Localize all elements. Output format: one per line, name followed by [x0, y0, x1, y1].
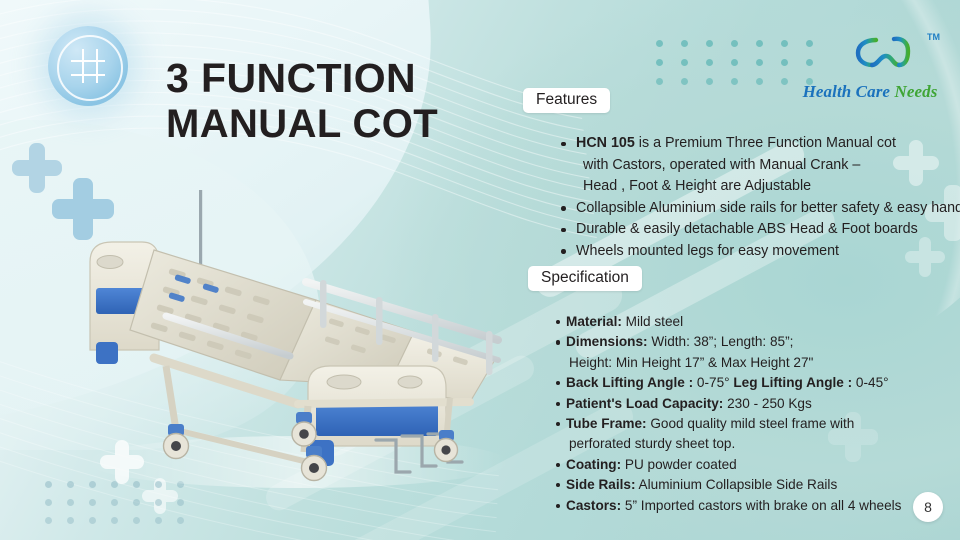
feature-text: Collapsible Aluminium side rails for bet…	[576, 200, 960, 216]
feature-continuation: with Castors, operated with Manual Crank…	[576, 155, 960, 177]
spec-value: Width: 38”; Length: 85”;	[648, 334, 794, 349]
medical-cross-icon	[71, 49, 105, 83]
list-item: HCN 105 is a Premium Three Function Manu…	[558, 133, 960, 198]
spec-label: Back Lifting Angle :	[566, 375, 693, 390]
list-item: Side Rails: Aluminium Collapsible Side R…	[555, 475, 960, 495]
brand-logo: TM Health Care Needs	[794, 20, 944, 112]
spec-continuation-line: perforated sturdy sheet top.	[555, 434, 960, 454]
spec-label: Tube Frame:	[566, 416, 647, 431]
feature-text: Wheels mounted legs for easy movement	[576, 243, 839, 259]
list-item: Coating: PU powder coated	[555, 455, 960, 475]
list-item: Patient's Load Capacity: 230 - 250 Kgs	[555, 394, 960, 414]
spec-value: 0-75°	[693, 375, 729, 390]
trademark-symbol: TM	[927, 32, 940, 42]
spec-value-2: 0-45°	[856, 375, 889, 390]
spec-label: Side Rails:	[566, 477, 636, 492]
brand-name-part1: Health Care	[803, 82, 895, 101]
list-item: Back Lifting Angle : 0-75° Leg Lifting A…	[555, 373, 960, 393]
features-list: HCN 105 is a Premium Three Function Manu…	[518, 133, 960, 262]
hcn-monogram-logo-icon	[808, 20, 926, 82]
list-item: Material: Mild steel	[555, 312, 960, 332]
spec-label: Patient's Load Capacity:	[566, 396, 723, 411]
spec-value: Aluminium Collapsible Side Rails	[636, 477, 838, 492]
list-item: Dimensions: Width: 38”; Length: 85”;	[555, 332, 960, 352]
specification-list: Material: Mild steel Dimensions: Width: …	[515, 312, 960, 516]
spec-value: perforated sturdy sheet top.	[569, 436, 735, 451]
list-item: Durable & easily detachable ABS Head & F…	[558, 219, 960, 241]
feature-continuation: Head , Foot & Height are Adjustable	[576, 176, 960, 198]
title-line-1: 3 FUNCTION	[166, 58, 438, 100]
list-item: Wheels mounted legs for easy movement	[558, 241, 960, 263]
features-label: Features	[523, 88, 610, 113]
page-title: 3 FUNCTION MANUAL COT	[166, 58, 438, 147]
spec-label: Material:	[566, 314, 622, 329]
iv-pole	[184, 190, 219, 270]
spec-label: Castors:	[566, 498, 621, 513]
feature-text: is a Premium Three Function Manual cot	[635, 135, 896, 151]
product-image	[58, 190, 528, 500]
specification-label: Specification	[528, 266, 642, 291]
title-line-2: MANUAL COT	[166, 102, 438, 147]
slide: 3 FUNCTION MANUAL COT	[0, 0, 960, 540]
spec-value: PU powder coated	[621, 457, 737, 472]
spec-value: 230 - 250 Kgs	[723, 396, 811, 411]
spec-label-2: Leg Lifting Angle :	[730, 375, 856, 390]
spec-value: Height: Min Height 17” & Max Height 27"	[569, 355, 813, 370]
list-item: Tube Frame: Good quality mild steel fram…	[555, 414, 960, 434]
list-item: Castors: 5” Imported castors with brake …	[555, 496, 960, 516]
page-number-badge: 8	[913, 492, 943, 522]
spec-value: 5” Imported castors with brake on all 4 …	[621, 498, 901, 513]
spec-continuation-line: Height: Min Height 17” & Max Height 27"	[555, 353, 960, 373]
brand-name-part2: Needs	[894, 82, 937, 101]
spec-label: Dimensions:	[566, 334, 648, 349]
medical-badge	[48, 26, 128, 106]
spec-label: Coating:	[566, 457, 621, 472]
list-item: Collapsible Aluminium side rails for bet…	[558, 198, 960, 220]
brand-name: Health Care Needs	[794, 82, 946, 102]
feature-text: Durable & easily detachable ABS Head & F…	[576, 221, 918, 237]
feature-bold-text: HCN 105	[576, 135, 635, 151]
spec-value: Mild steel	[622, 314, 683, 329]
spec-value: Good quality mild steel frame with	[647, 416, 855, 431]
